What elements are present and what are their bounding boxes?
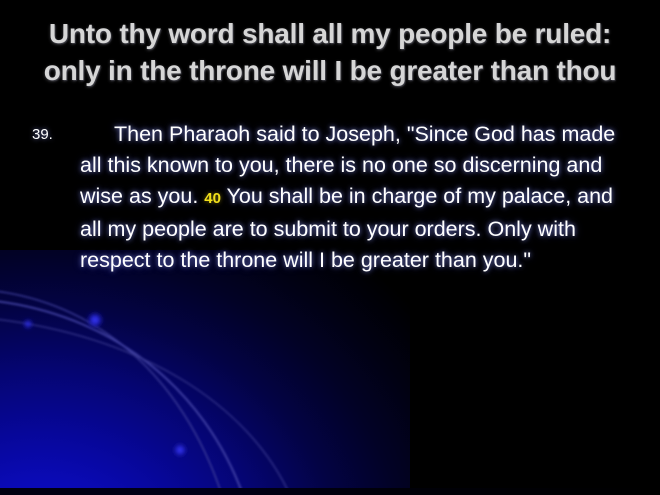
arc-outer [0,318,290,495]
arc-dot-large [87,312,104,329]
arc-inner [0,290,222,495]
title-block: Unto thy word shall all my people be rul… [0,16,660,89]
blue-corner-glow [0,250,410,495]
arc-dot-lower [173,443,188,458]
arc-dot-small [23,319,33,329]
verse-text: Then Pharaoh said to Joseph, "Since God … [80,119,632,276]
arc-middle [0,300,243,495]
slide-body: 39. Then Pharaoh said to Joseph, "Since … [32,119,632,276]
slide-title: Unto thy word shall all my people be rul… [0,16,660,89]
verse-marker: 39. [32,119,80,150]
bottom-edge-band [0,488,660,495]
presentation-slide: Unto thy word shall all my people be rul… [0,0,660,495]
verse-number-40: 40 [204,190,221,207]
